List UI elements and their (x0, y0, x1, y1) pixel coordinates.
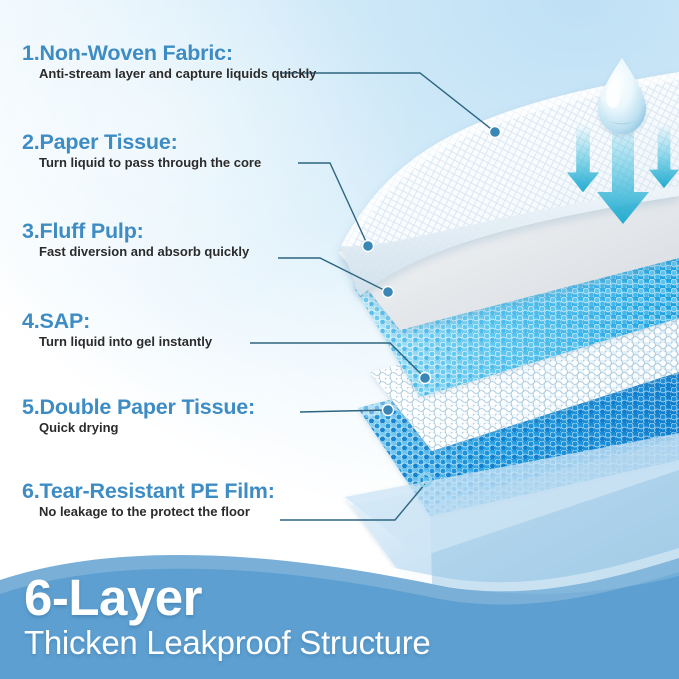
leader-dot-2 (363, 241, 374, 252)
layer-1-subtitle: Anti-stream layer and capture liquids qu… (39, 67, 316, 81)
layer-4-title: 4.SAP: (22, 310, 212, 333)
leader-dot-3 (383, 287, 394, 298)
leader-line-1 (280, 73, 495, 132)
layer-2-title: 2.Paper Tissue: (22, 131, 261, 154)
leader-dot-1 (490, 127, 501, 138)
label-block-1: 1.Non-Woven Fabric: Anti-stream layer an… (22, 42, 316, 81)
layer-6-subtitle: No leakage to the protect the floor (39, 505, 275, 519)
leader-line-5 (300, 410, 388, 412)
layer-6-title: 6.Tear-Resistant PE Film: (22, 480, 275, 503)
layer-5-subtitle: Quick drying (39, 421, 255, 435)
leader-line-3 (278, 258, 388, 292)
layer-structure-infographic: 1.Non-Woven Fabric: Anti-stream layer an… (0, 0, 679, 679)
leader-line-2 (298, 163, 368, 246)
layer-1-title: 1.Non-Woven Fabric: (22, 42, 316, 65)
layer-4-subtitle: Turn liquid into gel instantly (39, 335, 212, 349)
label-block-4: 4.SAP: Turn liquid into gel instantly (22, 310, 212, 349)
leader-dot-5 (383, 405, 394, 416)
label-block-3: 3.Fluff Pulp: Fast diversion and absorb … (22, 220, 249, 259)
leader-line-6 (280, 484, 425, 520)
layer-2-subtitle: Turn liquid to pass through the core (39, 156, 261, 170)
layer-3-subtitle: Fast diversion and absorb quickly (39, 245, 249, 259)
layer-5-title: 5.Double Paper Tissue: (22, 396, 255, 419)
leader-dot-4 (420, 373, 431, 384)
label-block-6: 6.Tear-Resistant PE Film: No leakage to … (22, 480, 275, 519)
label-block-2: 2.Paper Tissue: Turn liquid to pass thro… (22, 131, 261, 170)
layer-3-title: 3.Fluff Pulp: (22, 220, 249, 243)
label-block-5: 5.Double Paper Tissue: Quick drying (22, 396, 255, 435)
leader-line-4 (250, 343, 425, 378)
